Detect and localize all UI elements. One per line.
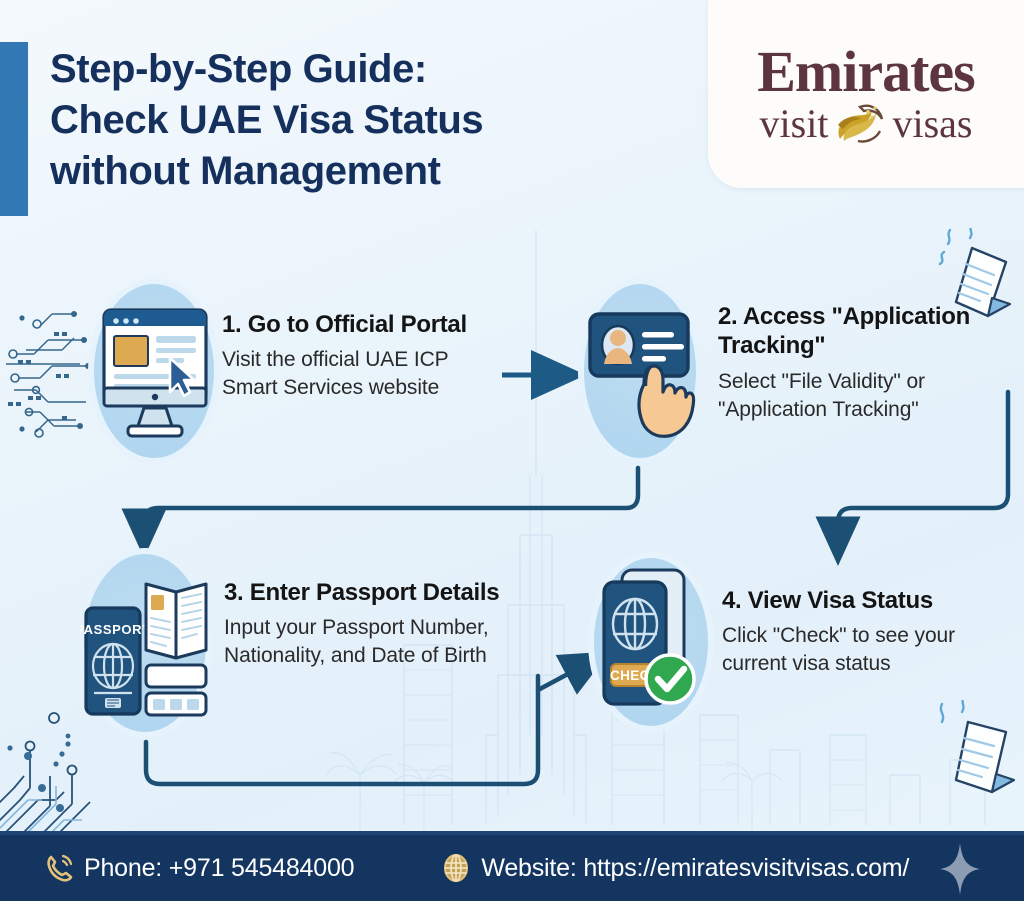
globe-icon <box>442 854 470 882</box>
footer-phone[interactable]: Phone: +971 545484000 <box>46 854 354 883</box>
footer-website-text: Website: https://emiratesvisitvisas.com/ <box>481 854 909 883</box>
connector-2-to-3 <box>144 468 638 540</box>
title-line-3: without Management <box>50 146 700 197</box>
phone-check-button-icon: CHECK <box>594 560 712 720</box>
step-2-title: 2. Access "Application Tracking" <box>718 302 1018 361</box>
footer-website[interactable]: Website: https://emiratesvisitvisas.com/ <box>442 854 909 883</box>
step-2-title-line-1: 2. Access "Application <box>718 302 1018 331</box>
document-paper-bottom-icon <box>928 700 1024 815</box>
footer-divider <box>0 831 1024 835</box>
logo-tagline: visit visas <box>760 103 973 145</box>
step-2-desc-line-2: "Application Tracking" <box>718 396 1018 424</box>
step-2-text: 2. Access "Application Tracking" Select … <box>718 302 1018 424</box>
step-2-description: Select "File Validity" or "Application T… <box>718 368 1018 424</box>
step-3-desc-line-2: Nationality, and Date of Birth <box>224 642 544 670</box>
brand-logo: Emirates visit visas <box>708 0 1024 188</box>
step-3-description: Input your Passport Number, Nationality,… <box>224 614 544 670</box>
falcon-icon <box>834 103 886 145</box>
step-4-text: 4. View Visa Status Click "Check" to see… <box>722 586 1007 679</box>
step-4-title: 4. View Visa Status <box>722 586 1007 615</box>
desktop-monitor-browser-icon <box>96 298 214 448</box>
step-2-desc-line-1: Select "File Validity" or <box>718 368 1018 396</box>
logo-brand-name: Emirates <box>757 43 975 101</box>
logo-word-visas: visas <box>892 104 972 144</box>
step-3-text: 3. Enter Passport Details Input your Pas… <box>224 578 544 671</box>
step-1-desc-line-2: Smart Services website <box>222 374 512 402</box>
step-1-desc-line-1: Visit the official UAE ICP <box>222 346 512 374</box>
passport-open-book-icon: PASSPORT <box>80 562 212 724</box>
id-card-pointing-hand-icon <box>586 296 698 446</box>
header-accent-bar <box>0 42 28 216</box>
page-title: Step-by-Step Guide: Check UAE Visa Statu… <box>50 44 700 198</box>
step-1-title: 1. Go to Official Portal <box>222 310 512 339</box>
footer-bar: Phone: +971 545484000 Website: https://e… <box>0 835 1024 901</box>
connector-3-to-4-arrow <box>538 660 594 690</box>
passport-label: PASSPORT <box>80 622 151 637</box>
step-4-desc-line-2: current visa status <box>722 650 1007 678</box>
phone-icon <box>46 854 73 882</box>
infographic-page: Step-by-Step Guide: Check UAE Visa Statu… <box>0 0 1024 901</box>
step-2-title-line-2: Tracking" <box>718 331 1018 360</box>
title-line-1: Step-by-Step Guide: <box>50 44 700 95</box>
footer-phone-text: Phone: +971 545484000 <box>84 854 354 883</box>
step-4-desc-line-1: Click "Check" to see your <box>722 622 1007 650</box>
logo-word-visit: visit <box>760 104 829 144</box>
step-4-description: Click "Check" to see your current visa s… <box>722 622 1007 678</box>
sparkle-star-icon <box>940 843 980 895</box>
step-1-description: Visit the official UAE ICP Smart Service… <box>222 346 512 402</box>
step-1-text: 1. Go to Official Portal Visit the offic… <box>222 310 512 403</box>
step-3-desc-line-1: Input your Passport Number, <box>224 614 544 642</box>
title-line-2: Check UAE Visa Status <box>50 95 700 146</box>
step-3-title: 3. Enter Passport Details <box>224 578 544 607</box>
